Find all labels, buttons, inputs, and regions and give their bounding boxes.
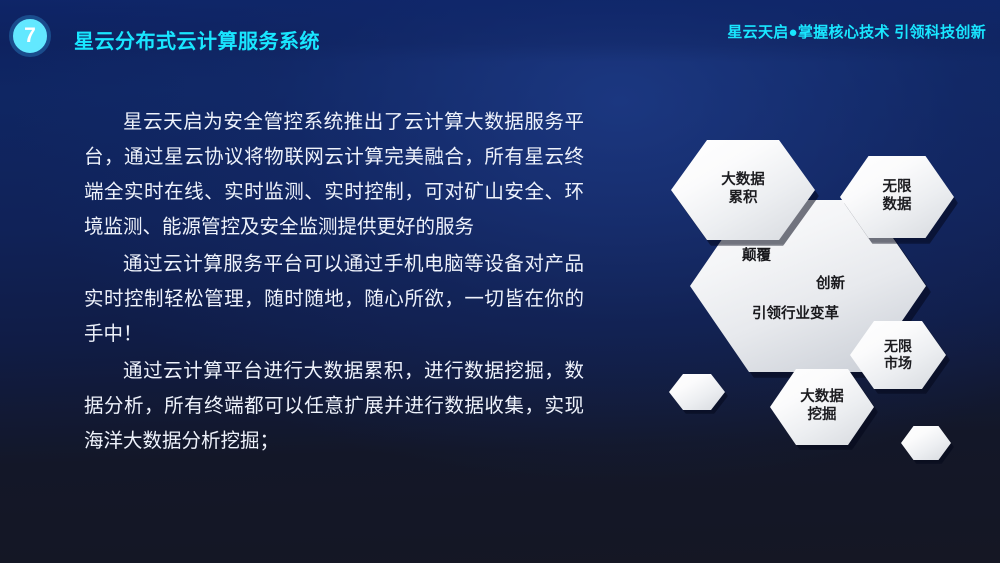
center-label-innovate: 创新 — [816, 276, 845, 294]
paragraph-3: 通过云计算平台进行大数据累积，进行数据挖掘，数据分析，所有终端都可以任意扩展并进… — [84, 353, 584, 458]
hexagon-label-line2: 挖掘 — [800, 407, 844, 425]
slide: 7 星云分布式云计算服务系统 星云天启●掌握核心技术 引领科技创新 星云天启为安… — [0, 0, 1000, 563]
center-label-lead-industry: 引领行业变革 — [752, 306, 839, 324]
hexagon-label-line2: 数据 — [883, 197, 912, 215]
hexagon-label-line1: 无限 — [883, 179, 912, 197]
hexagon-diagram: 颠覆 创新 引领行业变革 大数据 累积 无限 数据 无限 市场 — [640, 110, 1000, 470]
hexagon-label-line1: 大数据 — [800, 389, 844, 407]
slide-header: 7 星云分布式云计算服务系统 星云天启●掌握核心技术 引领科技创新 — [0, 0, 1000, 62]
slide-number-badge: 7 — [9, 15, 51, 57]
paragraph-1: 星云天启为安全管控系统推出了云计算大数据服务平台，通过星云协议将物联网云计算完美… — [84, 104, 584, 244]
paragraph-2: 通过云计算服务平台可以通过手机电脑等设备对产品实时控制轻松管理，随时随地，随心所… — [84, 246, 584, 351]
hexagon-label-line2: 市场 — [884, 355, 912, 372]
hexagon-label-line1: 无限 — [884, 338, 912, 355]
header-tagline: 星云天启●掌握核心技术 引领科技创新 — [727, 21, 986, 42]
center-label-disrupt: 颠覆 — [742, 248, 771, 266]
slide-number-text: 7 — [24, 25, 36, 46]
hexagon-label-line1: 大数据 — [721, 172, 765, 190]
page-title: 星云分布式云计算服务系统 — [74, 25, 320, 54]
hexagon-label-line2: 累积 — [721, 190, 765, 208]
body-text-block: 星云天启为安全管控系统推出了云计算大数据服务平台，通过星云协议将物联网云计算完美… — [84, 104, 584, 460]
